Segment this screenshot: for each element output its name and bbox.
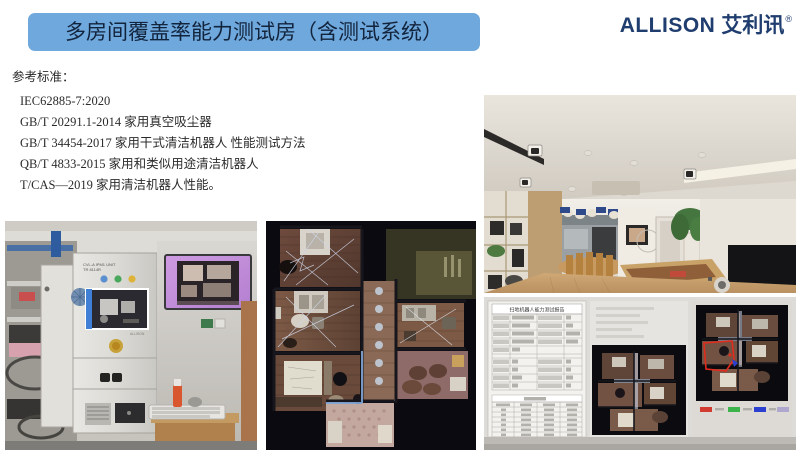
reference-standards-block: 参考标准： IEC62885-7:2020 GB/T 20291.1-2014 …	[12, 70, 472, 196]
brand-logo: ALLISON 艾利讯 ®	[620, 13, 792, 43]
reference-standards-list: IEC62885-7:2020 GB/T 20291.1-2014 家用真空吸尘…	[12, 91, 472, 196]
list-item: T/CAS—2019 家用清洁机器人性能。	[12, 175, 472, 196]
list-item: GB/T 20291.1-2014 家用真空吸尘器	[12, 112, 472, 133]
svg-text:TR 8114R: TR 8114R	[83, 267, 101, 272]
list-item: IEC62885-7:2020	[12, 91, 472, 112]
test-system-cabinet-photo: CVL-A IPM1 UNIT TR 8114R ALLISON	[5, 221, 257, 450]
list-item: QB/T 4833-2015 家用和类似用途清洁机器人	[12, 154, 472, 175]
brand-name-latin: ALLISON	[620, 13, 716, 39]
test-room-interior-photo	[484, 95, 796, 293]
registered-trademark-icon: ®	[785, 14, 792, 24]
svg-text:扫地机器人能力测试报告: 扫地机器人能力测试报告	[509, 307, 564, 314]
list-item: GB/T 34454-2017 家用干式清洁机器人 性能测试方法	[12, 133, 472, 154]
coverage-floorplan-photo	[266, 221, 476, 450]
brand-name-chinese: 艾利讯	[721, 13, 784, 39]
page-title: 多房间覆盖率能力测试房（含测试系统）	[65, 22, 443, 43]
reference-standards-heading: 参考标准：	[12, 70, 472, 84]
test-software-report-photo: 扫地机器人能力测试报告	[484, 297, 796, 450]
svg-text:ALLISON: ALLISON	[130, 332, 145, 336]
slide-title-banner: 多房间覆盖率能力测试房（含测试系统）	[28, 13, 480, 51]
